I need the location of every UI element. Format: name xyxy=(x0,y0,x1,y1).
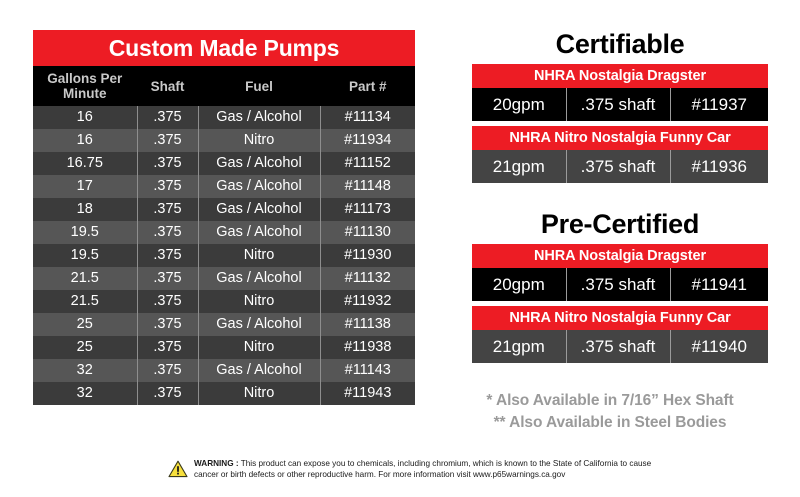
cell-gallons-per-minute: 19.5 xyxy=(33,221,137,244)
certifiable-section: Certifiable NHRA Nostalgia Dragster20gpm… xyxy=(472,28,768,183)
cell-shaft: .375 xyxy=(137,175,198,198)
cell-part-number: #11938 xyxy=(320,336,415,359)
cell-part-number: #11152 xyxy=(320,152,415,175)
cell-shaft: .375 xyxy=(137,267,198,290)
table-body: 16.375Gas / Alcohol#1113416.375Nitro#119… xyxy=(33,106,415,405)
cell-fuel: Gas / Alcohol xyxy=(198,198,320,221)
table-row: 25.375Gas / Alcohol#11138 xyxy=(33,313,415,336)
cell-shaft: .375 xyxy=(137,290,198,313)
certifiable-table: NHRA Nostalgia Dragster20gpm.375 shaft#1… xyxy=(472,64,768,183)
table-row: 16.375Gas / Alcohol#11134 xyxy=(33,106,415,129)
cell-gallons-per-minute: 21.5 xyxy=(33,267,137,290)
pump-specification-sheet: Custom Made Pumps Gallons Per Minute Sha… xyxy=(0,0,800,497)
cell-shaft: .375 xyxy=(137,152,198,175)
cell-gallons-per-minute: 21.5 xyxy=(33,290,137,313)
table-row: 32.375Nitro#11943 xyxy=(33,382,415,405)
category-header-row: NHRA Nitro Nostalgia Funny Car xyxy=(472,126,768,150)
cell-shaft: .375 xyxy=(137,198,198,221)
cell-gallons-per-minute: 19.5 xyxy=(33,244,137,267)
cell-shaft: .375 xyxy=(137,359,198,382)
cell-fuel: Gas / Alcohol xyxy=(198,152,320,175)
cell-fuel: Nitro xyxy=(198,129,320,152)
cell-part-number: #11934 xyxy=(320,129,415,152)
table-row: 17.375Gas / Alcohol#11148 xyxy=(33,175,415,198)
footnote-hex-shaft: * Also Available in 7/16” Hex Shaft xyxy=(440,390,780,412)
category-header-row: NHRA Nostalgia Dragster xyxy=(472,64,768,88)
table-row: 21.5.375Gas / Alcohol#11132 xyxy=(33,267,415,290)
cell-shaft: .375 shaft xyxy=(566,150,670,183)
cell-fuel: Gas / Alcohol xyxy=(198,359,320,382)
cell-fuel: Gas / Alcohol xyxy=(198,313,320,336)
cell-gallons-per-minute: 16.75 xyxy=(33,152,137,175)
category-header-row: NHRA Nitro Nostalgia Funny Car xyxy=(472,306,768,330)
cell-part-number: #11940 xyxy=(670,330,768,363)
cell-fuel: Nitro xyxy=(198,382,320,405)
cell-shaft: .375 xyxy=(137,382,198,405)
category-label: NHRA Nostalgia Dragster xyxy=(472,64,768,88)
cell-part-number: #11134 xyxy=(320,106,415,129)
cell-shaft: .375 xyxy=(137,313,198,336)
table-row: 16.375Nitro#11934 xyxy=(33,129,415,152)
category-label: NHRA Nitro Nostalgia Funny Car xyxy=(472,126,768,150)
precertified-section: Pre-Certified NHRA Nostalgia Dragster20g… xyxy=(472,208,768,363)
cell-gpm: 20gpm xyxy=(472,268,566,301)
cell-gpm: 20gpm xyxy=(472,88,566,121)
table-row: 25.375Nitro#11938 xyxy=(33,336,415,359)
cell-part-number: #11943 xyxy=(320,382,415,405)
category-header-row: NHRA Nostalgia Dragster xyxy=(472,244,768,268)
cell-gallons-per-minute: 17 xyxy=(33,175,137,198)
cell-shaft: .375 xyxy=(137,129,198,152)
cell-part-number: #11173 xyxy=(320,198,415,221)
cell-gallons-per-minute: 16 xyxy=(33,106,137,129)
cell-part-number: #11930 xyxy=(320,244,415,267)
cell-gallons-per-minute: 16 xyxy=(33,129,137,152)
cell-part-number: #11130 xyxy=(320,221,415,244)
cell-gallons-per-minute: 32 xyxy=(33,359,137,382)
custom-made-pumps-table: Gallons Per Minute Shaft Fuel Part # 16.… xyxy=(33,66,415,405)
prop65-body: This product can expose you to chemicals… xyxy=(194,459,651,479)
cell-shaft: .375 xyxy=(137,106,198,129)
footnotes: * Also Available in 7/16” Hex Shaft ** A… xyxy=(440,390,780,434)
custom-made-pumps-panel: Custom Made Pumps Gallons Per Minute Sha… xyxy=(33,30,415,405)
certifiable-heading: Certifiable xyxy=(472,28,768,60)
cell-fuel: Gas / Alcohol xyxy=(198,175,320,198)
cell-gpm: 21gpm xyxy=(472,330,566,363)
table-row: 16.75.375Gas / Alcohol#11152 xyxy=(33,152,415,175)
category-label: NHRA Nostalgia Dragster xyxy=(472,244,768,268)
cell-part-number: #11941 xyxy=(670,268,768,301)
cell-part-number: #11143 xyxy=(320,359,415,382)
cell-shaft: .375 shaft xyxy=(566,88,670,121)
cell-shaft: .375 xyxy=(137,221,198,244)
cell-part-number: #11138 xyxy=(320,313,415,336)
cell-part-number: #11148 xyxy=(320,175,415,198)
cell-part-number: #11932 xyxy=(320,290,415,313)
spec-row: 21gpm.375 shaft#11936 xyxy=(472,150,768,183)
cell-gallons-per-minute: 18 xyxy=(33,198,137,221)
cell-fuel: Gas / Alcohol xyxy=(198,267,320,290)
column-header-fuel: Fuel xyxy=(198,66,320,106)
cell-part-number: #11936 xyxy=(670,150,768,183)
prop65-label: WARNING : xyxy=(194,459,239,468)
warning-triangle-icon xyxy=(168,460,188,483)
spec-row: 21gpm.375 shaft#11940 xyxy=(472,330,768,363)
column-header-shaft: Shaft xyxy=(137,66,198,106)
cell-gallons-per-minute: 25 xyxy=(33,313,137,336)
footnote-steel-bodies: ** Also Available in Steel Bodies xyxy=(440,412,780,434)
category-label: NHRA Nitro Nostalgia Funny Car xyxy=(472,306,768,330)
table-row: 18.375Gas / Alcohol#11173 xyxy=(33,198,415,221)
precertified-table: NHRA Nostalgia Dragster20gpm.375 shaft#1… xyxy=(472,244,768,363)
cell-part-number: #11937 xyxy=(670,88,768,121)
cell-fuel: Nitro xyxy=(198,336,320,359)
cell-fuel: Nitro xyxy=(198,244,320,267)
main-table-title: Custom Made Pumps xyxy=(33,30,415,66)
cell-gallons-per-minute: 25 xyxy=(33,336,137,359)
table-row: 19.5.375Nitro#11930 xyxy=(33,244,415,267)
column-header-part-number: Part # xyxy=(320,66,415,106)
precertified-heading: Pre-Certified xyxy=(472,208,768,240)
cell-shaft: .375 shaft xyxy=(566,330,670,363)
spec-row: 20gpm.375 shaft#11937 xyxy=(472,88,768,121)
cell-shaft: .375 xyxy=(137,244,198,267)
cell-fuel: Gas / Alcohol xyxy=(198,221,320,244)
header-line-2: Minute xyxy=(63,86,107,101)
cell-fuel: Nitro xyxy=(198,290,320,313)
table-row: 19.5.375Gas / Alcohol#11130 xyxy=(33,221,415,244)
column-header-gallons-per-minute: Gallons Per Minute xyxy=(33,66,137,106)
table-row: 32.375Gas / Alcohol#11143 xyxy=(33,359,415,382)
header-line-1: Gallons Per xyxy=(47,71,122,86)
prop65-text: WARNING : This product can expose you to… xyxy=(194,459,668,480)
cell-shaft: .375 xyxy=(137,336,198,359)
cell-gallons-per-minute: 32 xyxy=(33,382,137,405)
cell-shaft: .375 shaft xyxy=(566,268,670,301)
cell-part-number: #11132 xyxy=(320,267,415,290)
cell-gpm: 21gpm xyxy=(472,150,566,183)
table-header-row: Gallons Per Minute Shaft Fuel Part # xyxy=(33,66,415,106)
spec-row: 20gpm.375 shaft#11941 xyxy=(472,268,768,301)
cell-fuel: Gas / Alcohol xyxy=(198,106,320,129)
prop65-warning: WARNING : This product can expose you to… xyxy=(168,459,668,483)
table-row: 21.5.375Nitro#11932 xyxy=(33,290,415,313)
